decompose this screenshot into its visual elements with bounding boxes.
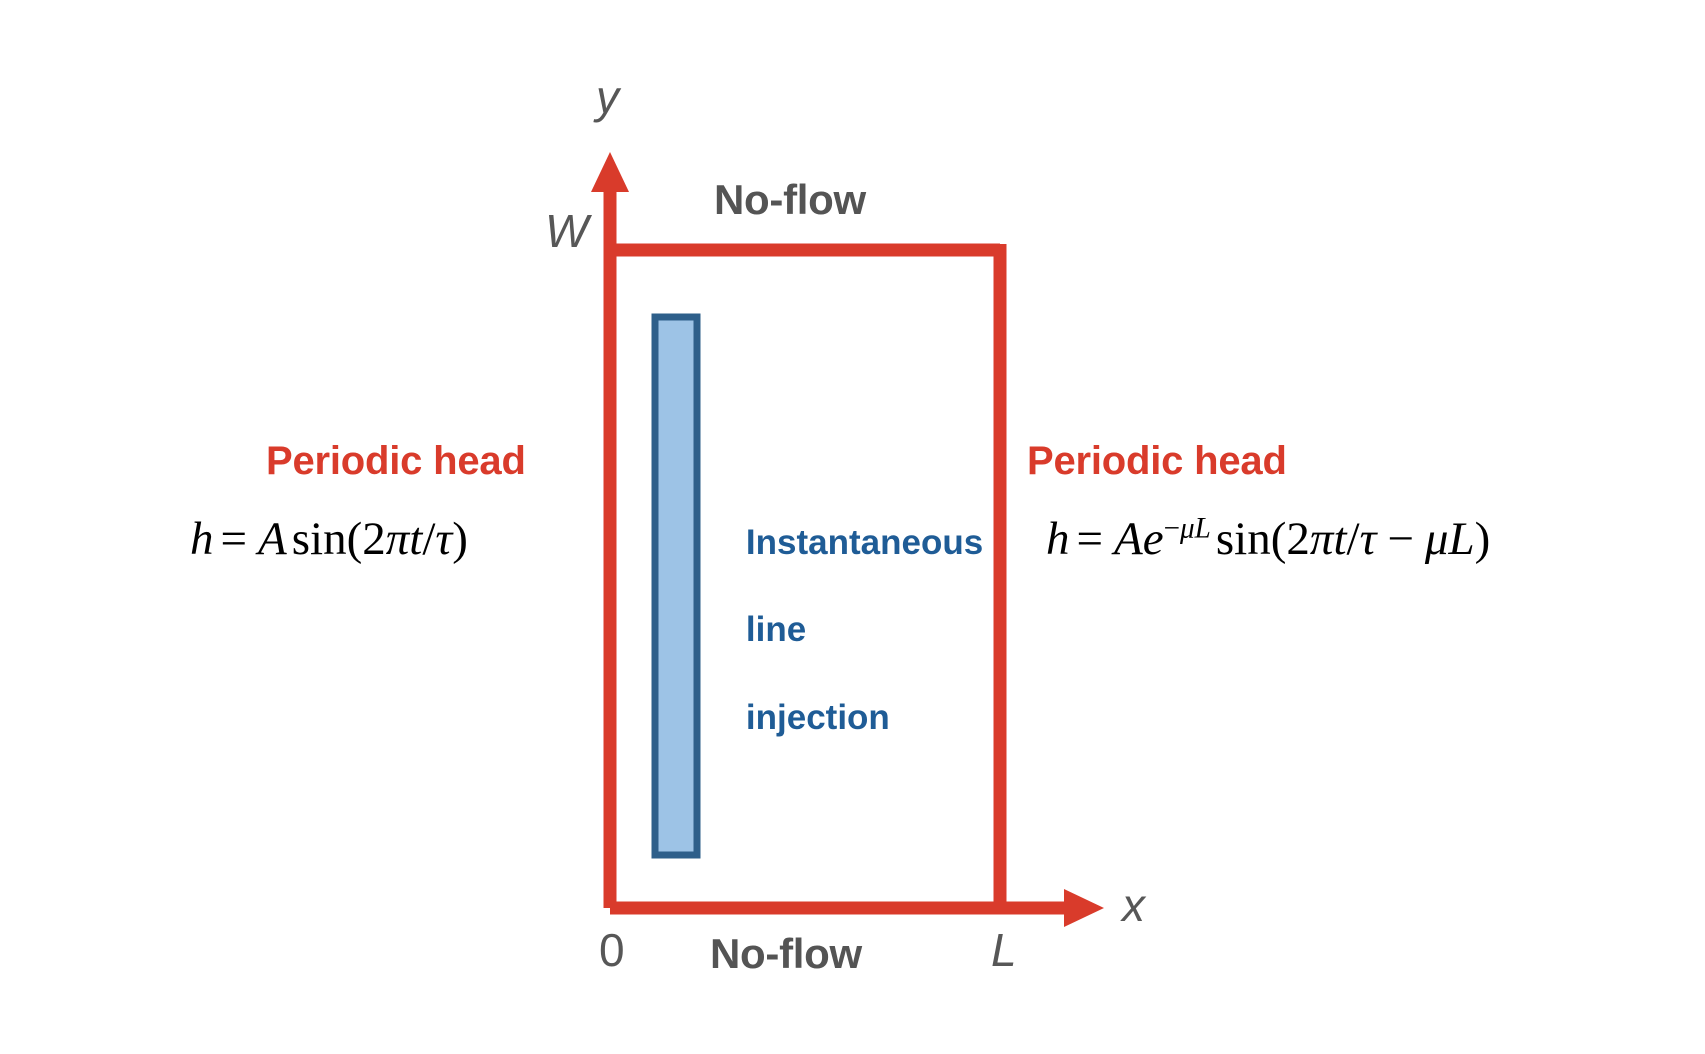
diagram-canvas: y x W 0 L No-flow No-flow Periodic head … — [0, 0, 1705, 1054]
x-axis-label: x — [1122, 880, 1145, 932]
eq-left-close-paren: ) — [452, 513, 468, 565]
eq-right-h: h — [1046, 513, 1070, 565]
left-boundary-equation: h=Asin(2πt/τ) — [190, 513, 468, 566]
x-axis — [610, 889, 1104, 927]
eq-right-open-paren: ( — [1271, 513, 1287, 565]
eq-right-amplitude: A — [1114, 513, 1143, 565]
line-injection-label: Instantaneous line injection — [707, 477, 947, 783]
eq-left-slash: / — [422, 513, 435, 565]
eq-left-sin: sin — [287, 513, 347, 565]
eq-right-exponent: −μL — [1164, 512, 1211, 544]
line-injection-source[interactable] — [655, 317, 697, 855]
eq-left-h: h — [190, 513, 214, 565]
eq-right-exp-mu: μ — [1180, 512, 1195, 544]
eq-right-minus: − — [1385, 513, 1416, 565]
x-axis-arrowhead — [1064, 889, 1104, 927]
eq-right-tau: τ — [1360, 513, 1377, 565]
eq-left-equals: = — [219, 513, 250, 565]
eq-right-e: e — [1143, 513, 1164, 565]
y-axis — [591, 152, 629, 908]
eq-right-L: L — [1449, 513, 1475, 565]
line-injection-label-line-1: Instantaneous — [746, 523, 983, 562]
eq-right-t: t — [1333, 513, 1346, 565]
eq-right-pi: π — [1310, 513, 1334, 565]
eq-left-t: t — [409, 513, 422, 565]
right-boundary-title-periodic-head: Periodic head — [1027, 439, 1287, 484]
y-max-label-W: W — [545, 206, 588, 258]
line-injection-label-line-3: injection — [746, 698, 890, 737]
eq-right-close-paren: ) — [1475, 513, 1491, 565]
line-injection-label-line-2: line — [746, 610, 806, 649]
eq-right-sin: sin — [1211, 513, 1271, 565]
eq-right-exp-L: L — [1195, 512, 1211, 544]
eq-left-tau: τ — [435, 513, 452, 565]
eq-left-open-paren: ( — [347, 513, 363, 565]
eq-left-pi: π — [386, 513, 410, 565]
top-boundary-label-no-flow: No-flow — [714, 176, 866, 223]
eq-right-two: 2 — [1286, 513, 1310, 565]
eq-right-exp-minus: − — [1164, 512, 1180, 544]
eq-right-equals: = — [1075, 513, 1106, 565]
y-axis-arrowhead — [591, 152, 629, 192]
left-boundary-title-periodic-head: Periodic head — [266, 439, 526, 484]
eq-left-amplitude: A — [258, 513, 287, 565]
eq-left-two: 2 — [362, 513, 386, 565]
origin-label-zero: 0 — [599, 925, 625, 977]
y-axis-label: y — [596, 72, 619, 124]
eq-right-mu: μ — [1425, 513, 1449, 565]
x-max-label-L: L — [991, 925, 1017, 977]
bottom-boundary-label-no-flow: No-flow — [710, 930, 862, 977]
right-boundary-equation: h=Ae−μLsin(2πt/τ−μL) — [1046, 513, 1490, 566]
eq-right-slash: / — [1347, 513, 1360, 565]
